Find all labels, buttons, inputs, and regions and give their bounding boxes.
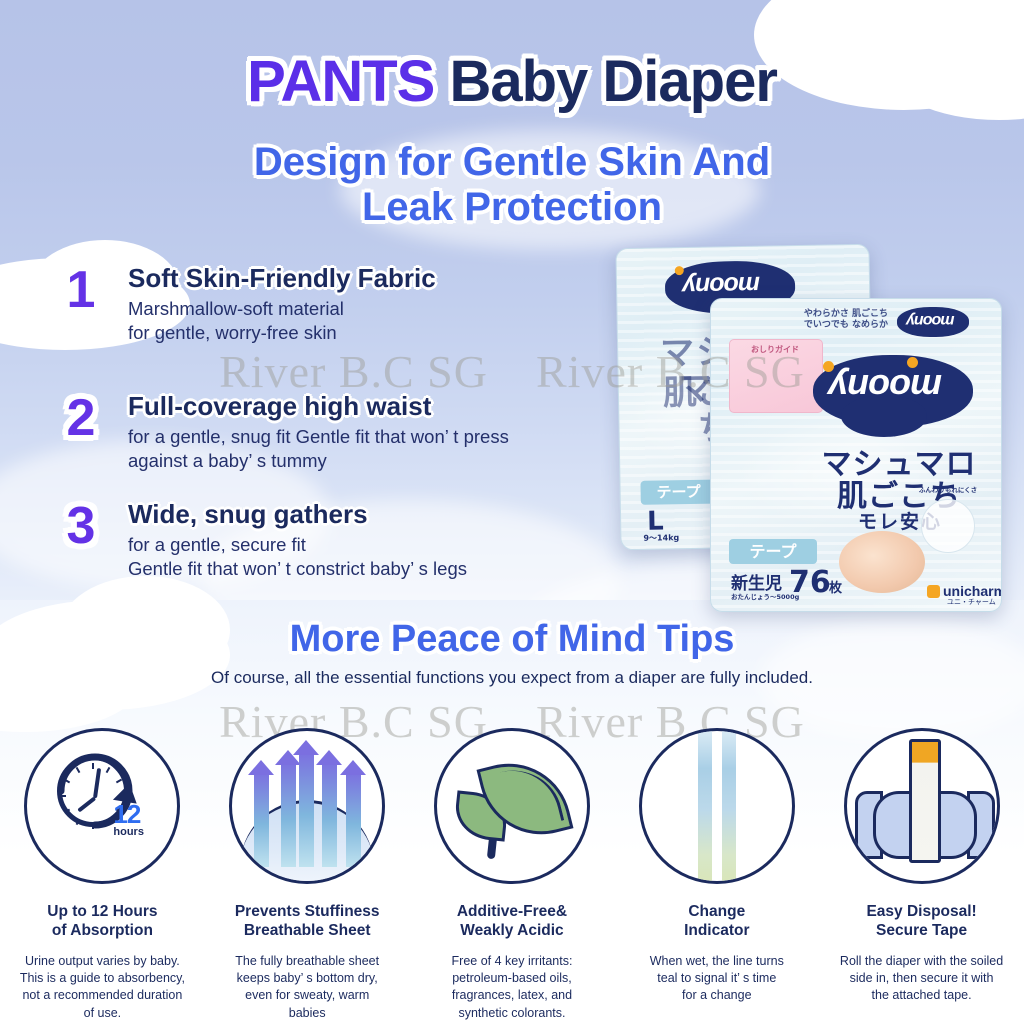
card-title: Easy Disposal! Secure Tape: [866, 902, 976, 941]
baby-photo: [839, 531, 925, 593]
card-body: When wet, the line turns teal to signal …: [624, 953, 809, 1005]
brand-logo-text-small: moony: [907, 312, 954, 328]
card-title-line: Additive-Free&: [457, 902, 567, 921]
pack-count-unit: 枚: [829, 577, 842, 596]
feature-desc-line: Marshmallow-soft material: [128, 297, 436, 322]
clock-12-hours-icon: 12 hours: [24, 728, 180, 884]
card-body-line: side in, then secure it with: [829, 970, 1014, 987]
breathability-arrows-icon: [229, 728, 385, 884]
feature-item-2: 2 Full-coverage high waist for a gentle,…: [52, 392, 509, 474]
subtitle-line-2: Leak Protection: [0, 185, 1024, 230]
card-body-line: of use.: [10, 1005, 195, 1022]
indicator-stripe: [722, 728, 736, 884]
wetness-indicator-stripes-icon: [639, 728, 795, 884]
adhesive-tape: [909, 739, 941, 863]
feature-number: 2: [52, 392, 110, 444]
card-body-line: This is a guide to absorbency,: [10, 970, 195, 987]
card-title-line: Indicator: [684, 921, 749, 940]
logo-dot: [823, 361, 834, 372]
hours-unit: hours: [113, 826, 144, 838]
card-title-line: Change: [684, 902, 749, 921]
page-title: PANTS Baby Diaper: [0, 48, 1024, 115]
card-body-line: teal to signal it’ s time: [624, 970, 809, 987]
page-subtitle: Design for Gentle Skin And Leak Protecti…: [0, 140, 1024, 230]
card-title-line: Up to 12 Hours: [47, 902, 157, 921]
rolled-diaper-tape-icon: [844, 728, 1000, 884]
card-body-line: Urine output varies by baby.: [10, 953, 195, 970]
airflow-arrow: [346, 771, 361, 867]
card-title-line: of Absorption: [47, 921, 157, 940]
feature-desc-line: against a baby’ s tummy: [128, 449, 509, 474]
pink-guide-text: おしりガイド: [735, 345, 815, 355]
feature-heading: Wide, snug gathers: [128, 500, 467, 530]
feature-number: 1: [52, 264, 110, 316]
airflow-arrow: [322, 761, 337, 867]
feature-desc-line: Gentle fit that won’ t constrict baby’ s…: [128, 557, 467, 582]
pack-tape-label: テープ: [729, 539, 817, 564]
card-body-line: the attached tape.: [829, 987, 1014, 1004]
subtitle-line-1: Design for Gentle Skin And: [254, 140, 770, 184]
logo-dot: [907, 357, 918, 368]
card-body-line: not a recommended duration: [10, 987, 195, 1004]
product-infographic-poster: PANTS Baby Diaper Design for Gentle Skin…: [0, 0, 1024, 1024]
airflow-arrow: [254, 771, 269, 867]
tips-section-title: More Peace of Mind Tips: [0, 618, 1024, 661]
card-body: Urine output varies by baby. This is a g…: [10, 953, 195, 1022]
feature-heading: Full-coverage high waist: [128, 392, 509, 422]
card-body-line: Free of 4 key irritants:: [419, 953, 604, 970]
benefit-card: 12 hours Up to 12 Hours of Absorption Ur…: [0, 728, 205, 1022]
card-title: Change Indicator: [684, 902, 749, 941]
benefit-card: Prevents Stuffiness Breathable Sheet The…: [205, 728, 410, 1022]
card-body-line: The fully breathable sheet: [215, 953, 400, 970]
pack-top-copy: やわらかさ 肌ごこちでいつでも なめらか: [803, 309, 889, 332]
card-title-line: Breathable Sheet: [235, 921, 380, 940]
benefit-card: Additive-Free& Weakly Acidic Free of 4 k…: [410, 728, 615, 1022]
card-body: Free of 4 key irritants: petroleum-based…: [419, 953, 604, 1022]
card-title-line: Secure Tape: [866, 921, 976, 940]
feature-desc-line: for gentle, worry-free skin: [128, 321, 436, 346]
card-body-line: Roll the diaper with the soiled: [829, 953, 1014, 970]
card-body-line: for a change: [624, 987, 809, 1004]
feature-heading: Soft Skin-Friendly Fabric: [128, 264, 436, 294]
feature-number: 3: [52, 500, 110, 552]
airflow-arrow: [299, 751, 314, 867]
card-title-line: Prevents Stuffiness: [235, 902, 380, 921]
hours-number: 12: [113, 801, 140, 827]
feature-badge-text: ふんわりもれにくさ: [917, 487, 979, 495]
card-body-line: babies: [215, 1005, 400, 1022]
title-rest: Baby Diaper: [449, 49, 776, 114]
airflow-arrow: [281, 761, 296, 867]
product-pack-front: やわらかさ 肌ごこちでいつでも なめらか moony おしりガイド moony …: [710, 298, 1002, 612]
feature-badge: [921, 499, 975, 553]
product-pack-photo: moony マシュマロ 肌ごこち テープ L 9～14kg 54 枚 やわらかさ…: [610, 236, 1010, 616]
leaf-additive-free-icon: [434, 728, 590, 884]
card-body: Roll the diaper with the soiled side in,…: [829, 953, 1014, 1005]
pack-size-note: 9～14kg: [643, 532, 679, 544]
card-title-line: Weakly Acidic: [457, 921, 567, 940]
benefit-card: Change Indicator When wet, the line turn…: [614, 728, 819, 1022]
manufacturer-name-jp: ユニ・チャーム: [947, 597, 996, 607]
feature-desc-line: for a gentle, secure fit: [128, 533, 467, 558]
card-title: Up to 12 Hours of Absorption: [47, 902, 157, 941]
card-body-line: keeps baby’ s bottom dry,: [215, 970, 400, 987]
indicator-stripe: [698, 728, 712, 884]
pack-count: 76: [789, 565, 831, 600]
card-body-line: When wet, the line turns: [624, 953, 809, 970]
tips-section-subtitle: Of course, all the essential functions y…: [0, 668, 1024, 688]
unicharm-mark: [927, 585, 940, 598]
card-title: Prevents Stuffiness Breathable Sheet: [235, 902, 380, 941]
feature-desc-line: for a gentle, snug fit Gentle fit that w…: [128, 425, 509, 450]
card-title: Additive-Free& Weakly Acidic: [457, 902, 567, 941]
brand-logo-text: moony: [683, 272, 760, 298]
feature-item-1: 1 Soft Skin-Friendly Fabric Marshmallow-…: [52, 264, 436, 346]
brand-logo-text-main: moony: [829, 369, 942, 405]
card-body-line: even for sweaty, warm: [215, 987, 400, 1004]
benefit-card: Easy Disposal! Secure Tape Roll the diap…: [819, 728, 1024, 1022]
card-body-line: synthetic colorants.: [419, 1005, 604, 1022]
card-body-line: fragrances, latex, and: [419, 987, 604, 1004]
card-body-line: petroleum-based oils,: [419, 970, 604, 987]
pack-tape-label: テープ: [640, 480, 716, 505]
benefit-cards: 12 hours Up to 12 Hours of Absorption Ur…: [0, 728, 1024, 1022]
card-title-line: Easy Disposal!: [866, 902, 976, 921]
feature-item-3: 3 Wide, snug gathers for a gentle, secur…: [52, 500, 467, 582]
title-highlight: PANTS: [247, 49, 434, 114]
card-body: The fully breathable sheet keeps baby’ s…: [215, 953, 400, 1022]
